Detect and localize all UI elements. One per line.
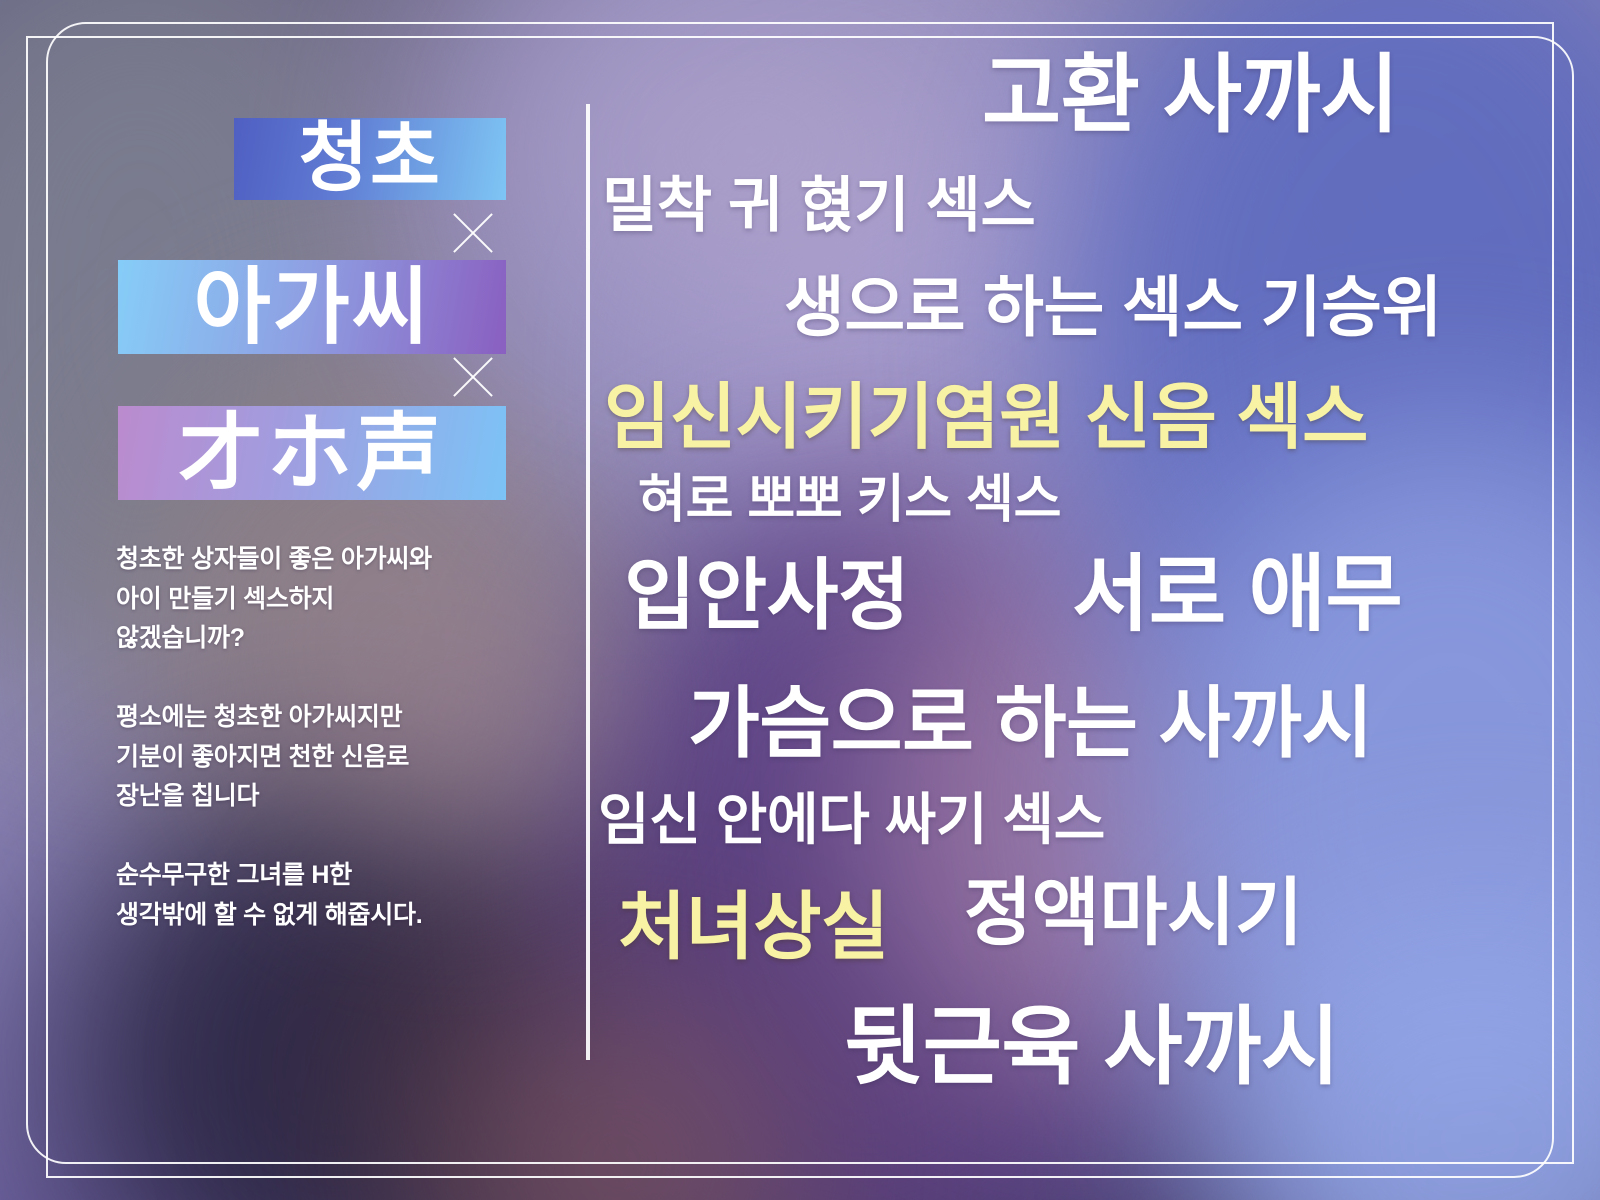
keyword-gaseumeuro-sakkasi: 가슴으로 하는 사까시 <box>688 684 1373 762</box>
description-paragraph: 청초한 상자들이 좋은 아가씨와 아이 만들기 섹스하지 않겠습니까? <box>116 540 566 659</box>
keyword-gohwan-sakkasi: 고환 사까시 <box>982 52 1399 138</box>
keyword-dwitgeunyuk-sakkasi: 뒷근육 사까시 <box>844 1004 1340 1090</box>
keyword-cheonyeo-sangsil: 처녀상실 <box>618 890 889 964</box>
title-box-cheongcho: 청초 <box>234 118 506 200</box>
description-paragraph: 순수무구한 그녀를 H한 생각밖에 할 수 없게 해줍시다. <box>116 856 566 935</box>
title-box-cheongcho-label: 청초 <box>299 121 442 197</box>
keyword-hyeoro-bbobbo-kiss-sex: 혀로 뽀뽀 키스 섹스 <box>638 474 1061 526</box>
keyword-saengeuro-sex-giseungwi: 생으로 하는 섹스 기승위 <box>784 274 1442 340</box>
title-stack: 청초 아가씨 才ホ声 <box>0 118 586 500</box>
keyword-imsin-sikigi-sinuem-sex: 임신시키기염원 신음 섹스 <box>604 382 1368 454</box>
cross-separator-icon <box>446 206 500 260</box>
keyword-seoro-aemu: 서로 애무 <box>1072 552 1402 636</box>
keyword-column: 고환 사까시밀착 귀 혅기 섹스생으로 하는 섹스 기승위임신시키기염원 신음 … <box>586 0 1600 1200</box>
cross-separator-icon <box>446 350 500 404</box>
title-box-ohkoe: 才ホ声 <box>118 406 506 500</box>
left-column: 청초 아가씨 才ホ声 청초한 상자들이 좋은 아가씨와 아이 만들기 섹스하지 … <box>0 0 586 1200</box>
keyword-milchak-gwi-halki-sex: 밀착 귀 혅기 섹스 <box>602 176 1035 236</box>
title-box-agassi-label: 아가씨 <box>194 265 431 349</box>
keyword-jeongaek-masigi: 정액마시기 <box>964 876 1303 950</box>
keyword-imsin-anneda-ssagi-sex: 임신 안에다 싸기 섹스 <box>598 792 1105 848</box>
description-paragraph: 평소에는 청초한 아가씨지만 기분이 좋아지면 천한 신음로 장난을 칩니다 <box>116 698 566 817</box>
title-box-ohkoe-label: 才ホ声 <box>178 411 445 495</box>
keyword-ipansajeong: 입안사정 <box>624 556 909 634</box>
description-text-block: 청초한 상자들이 좋은 아가씨와 아이 만들기 섹스하지 않겠습니까? 평소에는… <box>116 540 566 935</box>
title-box-agassi: 아가씨 <box>118 260 506 354</box>
